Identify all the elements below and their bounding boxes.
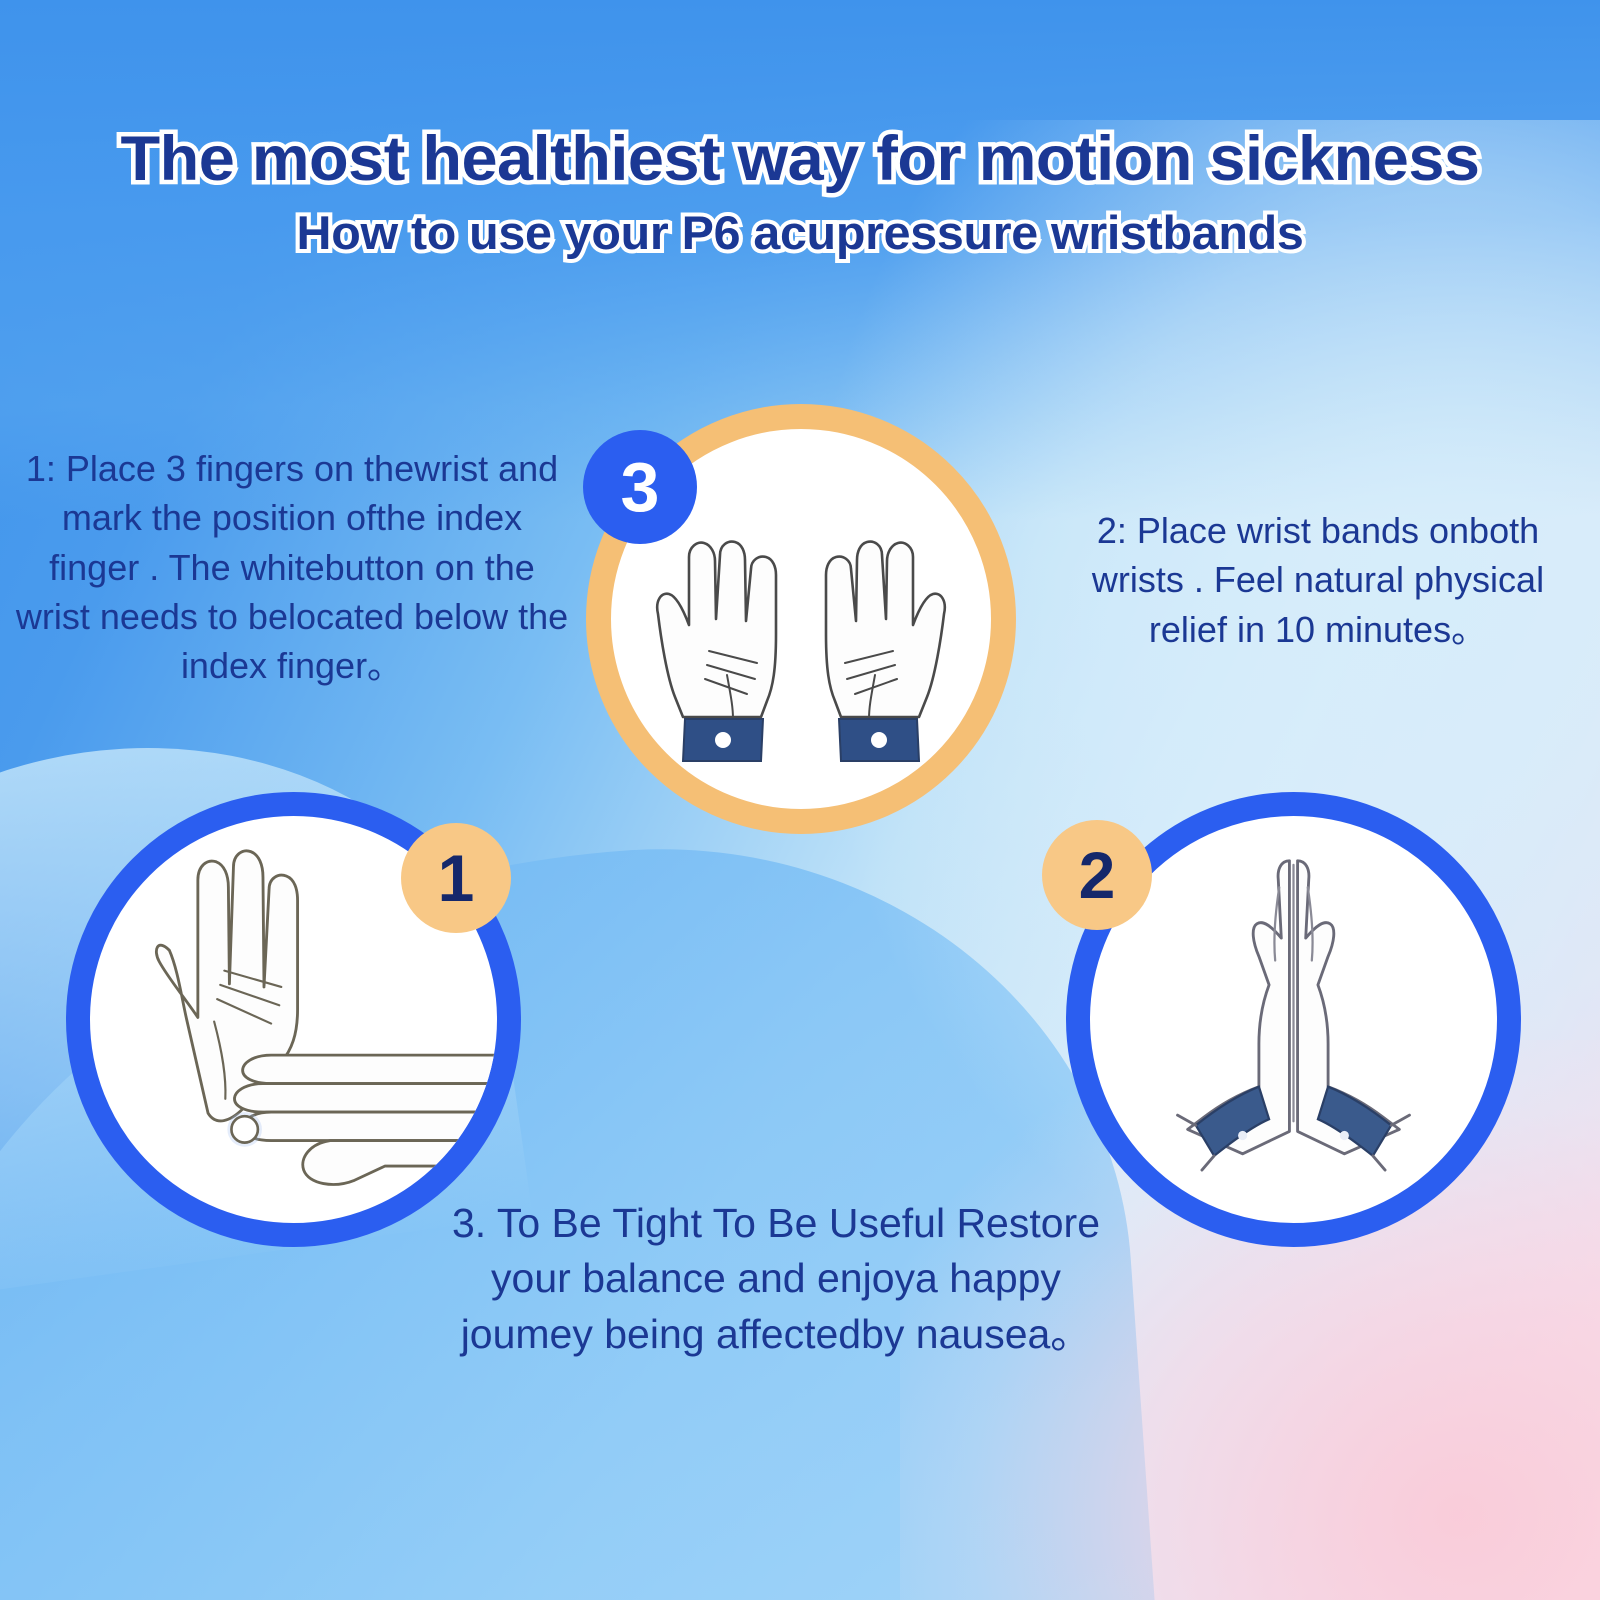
step-2-number-badge: 2 [1042,820,1152,930]
step-3-description: 3. To Be Tight To Be Useful Restore your… [452,1196,1100,1362]
wristband-right [839,719,919,761]
headline-block: The most healthiest way for motion sickn… [0,126,1600,258]
wristband-left [683,719,763,761]
step-3-number-badge: 3 [583,430,697,544]
step-1-number-badge: 1 [401,823,511,933]
infographic-poster: The most healthiest way for motion sickn… [0,0,1600,1600]
step-2-description: 2: Place wrist bands onboth wrists . Fee… [1058,506,1578,654]
step-1-description: 1: Place 3 fingers on thewrist and mark … [12,444,572,691]
page-title: The most healthiest way for motion sickn… [0,126,1600,193]
page-subtitle: How to use your P6 acupressure wristband… [0,207,1600,259]
